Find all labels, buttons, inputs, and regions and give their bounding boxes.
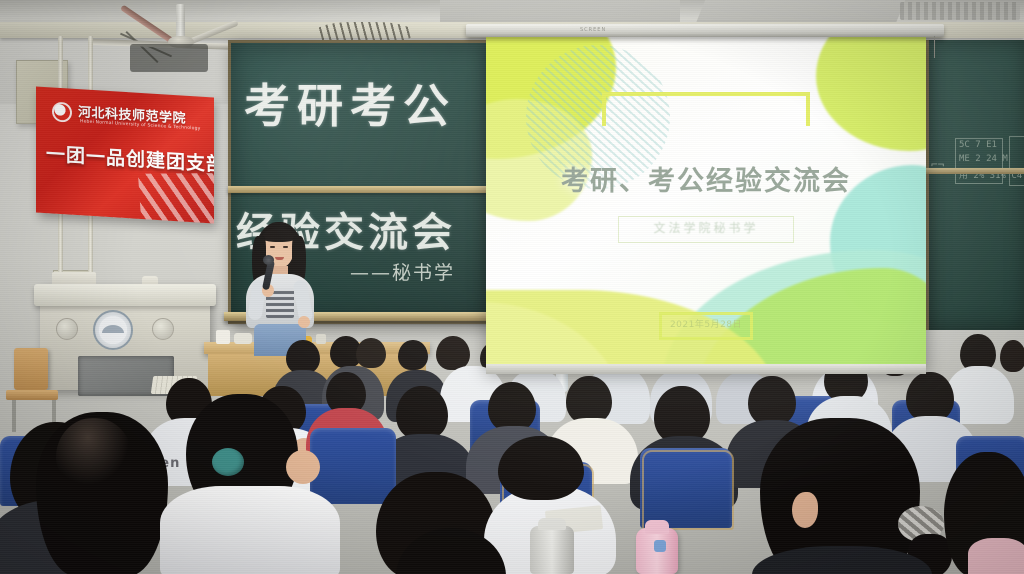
red-banner: 河北科技师范学院 Hebei Normal University of Scie… bbox=[36, 87, 214, 224]
side-blackboard-ledge bbox=[926, 168, 1024, 174]
side-blackboard: 5C 7 E1 ME 2 24 M 用 2% 31% C4 ⌐¬ bbox=[926, 40, 1024, 330]
ceiling-vent bbox=[900, 2, 1020, 20]
blackboard-scrawl-line: 5C 7 E1 bbox=[959, 140, 997, 150]
school-logo-icon bbox=[52, 102, 72, 123]
slide-subtitle: 文法学院秘书学 bbox=[486, 219, 926, 236]
pink-bottle-cap-icon bbox=[645, 520, 669, 534]
slide-bracket-ornament bbox=[602, 92, 810, 126]
speaker-bangs bbox=[262, 228, 296, 242]
ceiling-fan-rod bbox=[176, 4, 185, 38]
slide-title: 考研、考公经验交流会 bbox=[486, 159, 926, 198]
audience-head bbox=[436, 336, 470, 370]
gray-thermos-cap-icon bbox=[538, 518, 566, 530]
lectern-knob bbox=[152, 318, 174, 340]
microphone-head-icon bbox=[263, 255, 274, 265]
audience-head bbox=[1000, 340, 1024, 372]
audience-ear bbox=[792, 492, 818, 528]
wooden-chair-back bbox=[14, 348, 48, 390]
wall-shadow bbox=[130, 44, 208, 72]
audience-head bbox=[748, 376, 796, 426]
lectern-top bbox=[34, 284, 216, 306]
audience-shoulder bbox=[968, 538, 1024, 574]
gray-thermos bbox=[530, 526, 574, 574]
speaker bbox=[236, 222, 322, 354]
blackboard-line-3: ——秘书学 bbox=[350, 258, 500, 285]
table-item-cup bbox=[216, 330, 230, 344]
pink-bottle-button-icon[interactable] bbox=[654, 540, 666, 552]
slide-decor-blob bbox=[816, 37, 926, 151]
screen-brand-label: SCREEN bbox=[580, 27, 606, 33]
audience-head bbox=[498, 436, 584, 500]
audience-head bbox=[906, 372, 954, 422]
audience-head bbox=[488, 382, 536, 432]
wooden-chair-seat bbox=[6, 390, 58, 400]
lectern-knob bbox=[56, 318, 78, 340]
speaker-hand bbox=[298, 316, 310, 328]
audience-hand bbox=[286, 450, 320, 484]
audience-head bbox=[286, 340, 320, 374]
audience-head bbox=[356, 338, 386, 368]
audience-head bbox=[566, 376, 612, 424]
audience-torso bbox=[160, 486, 340, 574]
speaker-eye bbox=[283, 246, 288, 248]
slide-date: 2021年5月28日 bbox=[486, 317, 926, 330]
projector-screen-housing bbox=[466, 24, 944, 37]
blackboard-ledge bbox=[228, 186, 490, 193]
chair-rim bbox=[642, 450, 734, 530]
audience-head bbox=[398, 340, 428, 370]
projector-screen: 考研、考公经验交流会 文法学院秘书学 2021年5月28日 bbox=[486, 37, 926, 370]
screen-pull-cord[interactable] bbox=[934, 36, 935, 58]
banner-main-text: 一团一品创建团支部 bbox=[46, 139, 206, 176]
blackboard-line-1: 考研考公 bbox=[244, 70, 478, 136]
speaker-eye bbox=[270, 246, 275, 248]
blackboard-scrawl-line: ME 2 24 M bbox=[959, 154, 1008, 164]
lectern-emblem-icon bbox=[93, 310, 133, 350]
audience-head bbox=[396, 386, 448, 440]
hair-scrunchie bbox=[212, 448, 244, 476]
blackboard-sketch-box bbox=[1009, 136, 1024, 186]
audience-hair-highlight bbox=[56, 418, 132, 488]
photo-scene: 河北科技师范学院 Hebei Normal University of Scie… bbox=[0, 0, 1024, 574]
presentation-slide: 考研、考公经验交流会 文法学院秘书学 2021年5月28日 bbox=[486, 37, 926, 370]
projector-screen-bottom-bar bbox=[486, 364, 926, 374]
chair-back bbox=[310, 428, 396, 504]
